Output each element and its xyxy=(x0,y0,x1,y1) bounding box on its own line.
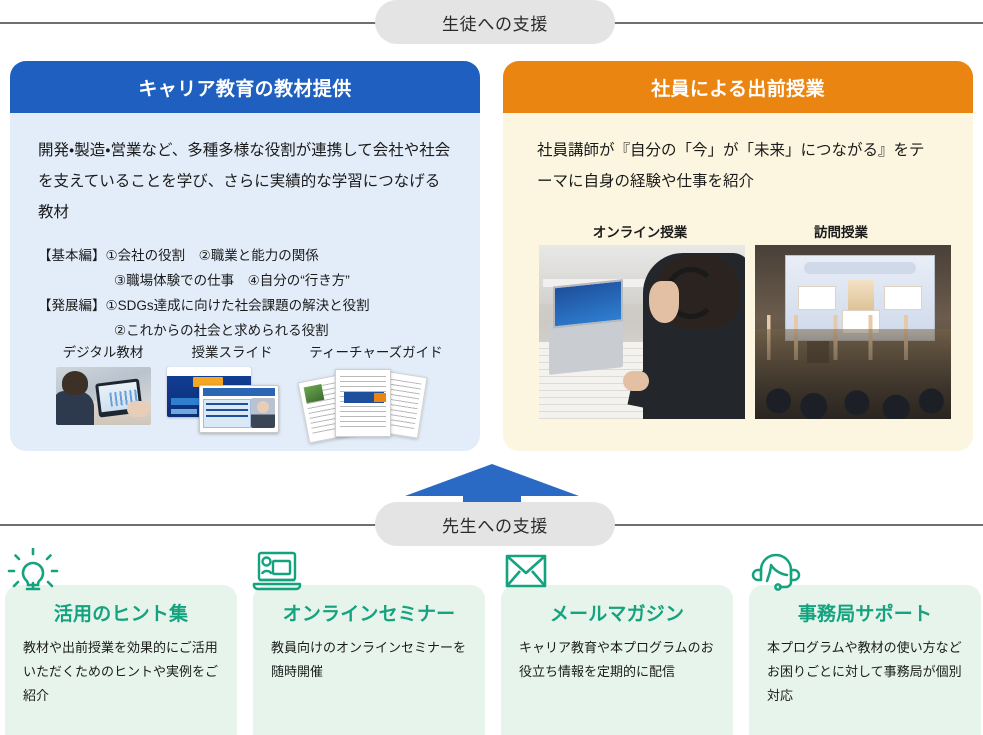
support-card-magazine: メールマガジン キャリア教育や本プログラムのお役立ち情報を定期的に配信 xyxy=(501,585,733,735)
support-card-body: 本プログラムや教材の使い方などお困りごとに対して事務局が個別対応 xyxy=(767,636,963,708)
infographic-root: 生徒への支援 キャリア教育の教材提供 開発・製造・営業など、多種多様な役割が連携… xyxy=(0,0,983,735)
curriculum-row: 【基本編】①会社の役割 ②職業と能力の関係 xyxy=(38,244,452,269)
envelope-icon xyxy=(497,548,555,594)
lesson-slides-photo xyxy=(167,367,279,433)
laptop-seminar-icon xyxy=(248,548,306,594)
support-card-body: 教員向けのオンラインセミナーを随時開催 xyxy=(271,636,467,684)
support-card-office: 事務局サポート 本プログラムや教材の使い方などお困りごとに対して事務局が個別対応 xyxy=(749,585,981,735)
material-thumbnails: デジタル教材 授業スライド ティーチャーズガイド xyxy=(38,341,458,439)
digital-material-photo xyxy=(56,367,151,425)
student-support-label: 生徒への支援 xyxy=(375,0,615,44)
curriculum-row: 【発展編】①SDGs達成に向けた社会課題の解決と役割 xyxy=(38,294,452,319)
thumbnail-caption: 授業スライド xyxy=(168,341,296,361)
lesson-photos xyxy=(539,245,951,419)
headset-icon xyxy=(747,548,805,594)
support-card-body: キャリア教育や本プログラムのお役立ち情報を定期的に配信 xyxy=(519,636,715,684)
lesson-photo-captions: オンライン授業 訪問授業 xyxy=(537,221,939,241)
materials-lede: 開発・製造・営業など、多種多様な役割が連携して会社や社会を支えていることを学び、… xyxy=(38,135,452,228)
materials-card: キャリア教育の教材提供 開発・製造・営業など、多種多様な役割が連携して会社や社会… xyxy=(10,61,480,451)
lesson-photo-caption: 訪問授業 xyxy=(743,221,939,241)
support-card-body: 教材や出前授業を効果的にご活用いただくためのヒントや実例をご紹介 xyxy=(23,636,219,708)
curriculum-row: ③職場体験での仕事 ④自分の“行き方” xyxy=(38,269,452,294)
support-card-title: オンラインセミナー xyxy=(271,599,467,626)
materials-card-title: キャリア教育の教材提供 xyxy=(10,61,480,113)
support-card-hints: 活用のヒント集 教材や出前授業を効果的にご活用いただくためのヒントや実例をご紹介 xyxy=(5,585,237,735)
curriculum-list: 【基本編】①会社の役割 ②職業と能力の関係 ③職場体験での仕事 ④自分の“行き方… xyxy=(38,244,452,344)
visiting-lesson-photo xyxy=(755,245,951,419)
support-card-title: 活用のヒント集 xyxy=(23,599,219,626)
support-card-seminar: オンラインセミナー 教員向けのオンラインセミナーを随時開催 xyxy=(253,585,485,735)
lesson-photo-caption: オンライン授業 xyxy=(537,221,743,241)
online-lesson-photo xyxy=(539,245,745,419)
support-card-title: 事務局サポート xyxy=(767,599,963,626)
lessons-card: 社員による出前授業 社員講師が『自分の「今」が「未来」につながる』をテーマに自身… xyxy=(503,61,973,451)
lightbulb-icon xyxy=(4,548,62,594)
teachers-guide-photo xyxy=(303,367,423,439)
lessons-card-title: 社員による出前授業 xyxy=(503,61,973,113)
thumbnail-caption: デジタル教材 xyxy=(38,341,168,361)
teacher-support-label: 先生への支援 xyxy=(375,502,615,546)
thumbnail-caption: ティーチャーズガイド xyxy=(296,341,456,361)
lessons-lede: 社員講師が『自分の「今」が「未来」につながる』をテーマに自身の経験や仕事を紹介 xyxy=(537,135,939,197)
support-card-title: メールマガジン xyxy=(519,599,715,626)
